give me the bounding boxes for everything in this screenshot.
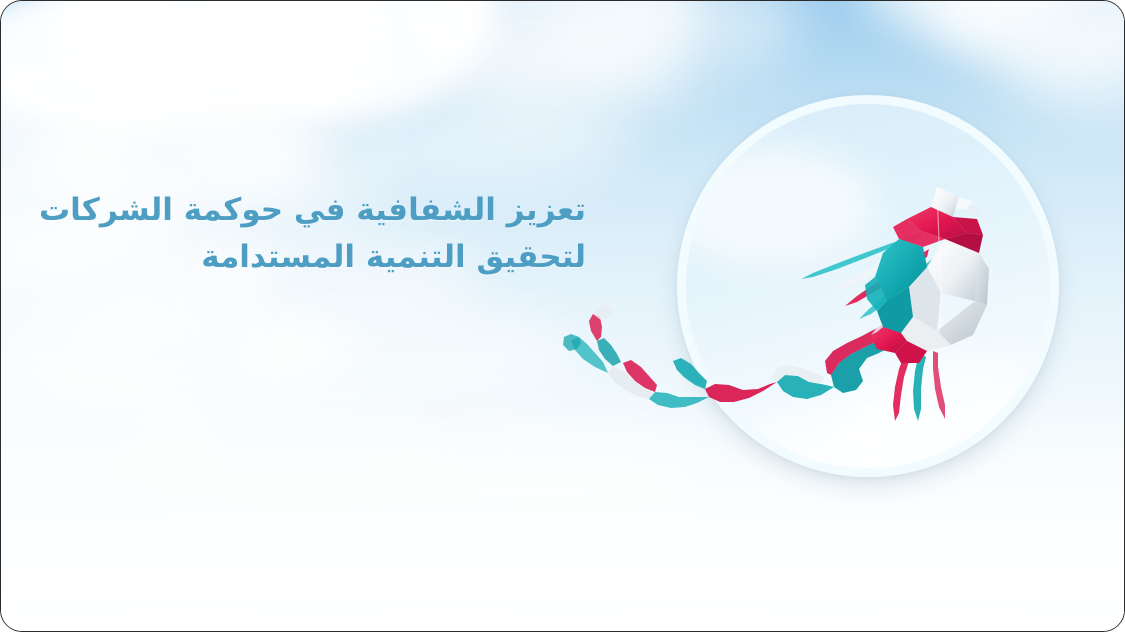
- title-slide: تعزيز الشفافية في حوكمة الشركات لتحقيق ا…: [0, 0, 1125, 632]
- cloud-puff: [331, 96, 631, 186]
- page-title: تعزيز الشفافية في حوكمة الشركات لتحقيق ا…: [41, 187, 586, 281]
- kite-photo-circle: [677, 95, 1059, 477]
- cloud-puff: [686, 144, 876, 264]
- title-line-1: تعزيز الشفافية في حوكمة الشركات: [41, 187, 586, 234]
- title-line-2: لتحقيق التنمية المستدامة: [41, 234, 586, 281]
- kite-photo-inner: [686, 104, 1050, 468]
